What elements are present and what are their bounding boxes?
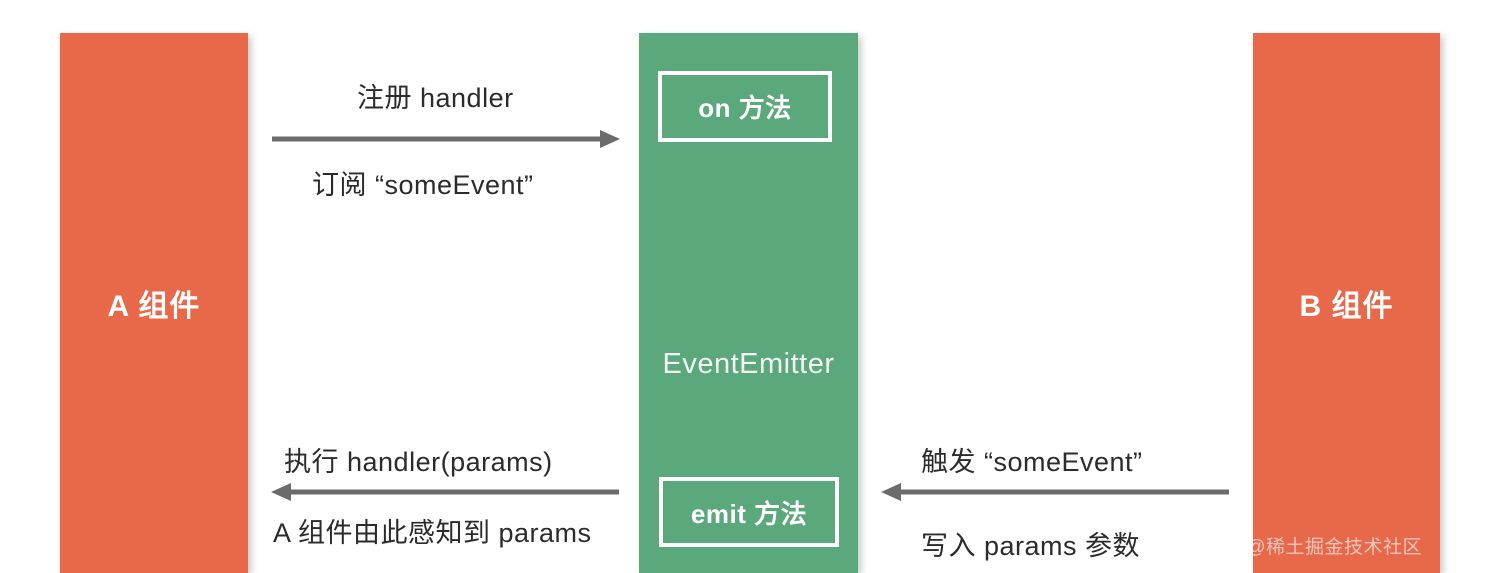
flow-b-to-emitter-label-above: 触发 “someEvent” (921, 440, 1143, 479)
emit-method-box: emit 方法 (659, 477, 839, 547)
component-a-label: A 组件 (108, 281, 201, 325)
flow-b-to-emitter-label-below: 写入 params 参数 (921, 524, 1140, 563)
component-a-box: A 组件 (60, 33, 248, 573)
on-method-label: on 方法 (698, 88, 792, 125)
flow-a-to-emitter-label-above: 注册 handler (357, 76, 514, 115)
component-b-box: B 组件 @稀土掘金技术社区 (1253, 33, 1440, 573)
emit-method-label: emit 方法 (691, 494, 807, 531)
diagram-canvas: A 组件 on 方法 EventEmitter emit 方法 B 组件 @稀土… (0, 0, 1512, 573)
flow-emitter-to-a-label-below: A 组件由此感知到 params (273, 511, 592, 550)
flow-a-to-emitter-label-below: 订阅 “someEvent” (312, 163, 534, 202)
watermark: @稀土掘金技术社区 (1246, 532, 1422, 559)
event-emitter-label: EventEmitter (663, 348, 835, 380)
flow-emitter-to-a-label-above: 执行 handler(params) (284, 440, 553, 479)
flow-b-to-emitter-arrow (881, 481, 1229, 503)
event-emitter-box: on 方法 EventEmitter emit 方法 (639, 33, 858, 573)
flow-a-to-emitter-arrow (272, 128, 620, 150)
flow-emitter-to-a-arrow (271, 481, 619, 503)
component-b-label: B 组件 (1300, 281, 1394, 325)
on-method-box: on 方法 (658, 71, 832, 142)
event-emitter-title: EventEmitter (639, 348, 858, 381)
